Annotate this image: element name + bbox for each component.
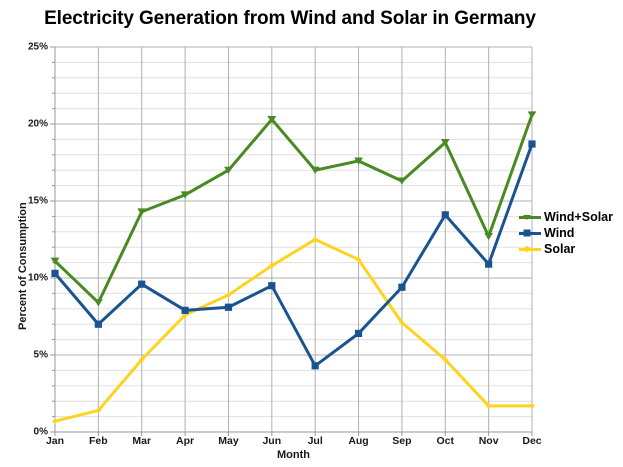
data-point-marker bbox=[95, 321, 102, 328]
data-point-marker bbox=[528, 111, 537, 118]
data-point-marker bbox=[355, 330, 362, 337]
series-solar bbox=[52, 237, 535, 425]
series-wind bbox=[51, 140, 535, 369]
data-point-marker bbox=[268, 282, 275, 289]
legend-label: Wind bbox=[544, 226, 574, 240]
data-point-marker bbox=[181, 307, 188, 314]
data-point-marker bbox=[51, 270, 58, 277]
data-point-marker bbox=[528, 140, 535, 147]
data-point-marker bbox=[312, 362, 319, 369]
data-point-marker bbox=[225, 304, 232, 311]
legend-label: Solar bbox=[544, 242, 575, 256]
series-wind-solar bbox=[51, 111, 537, 306]
legend-swatch-icon bbox=[519, 210, 541, 224]
chart-legend: Wind+SolarWindSolar bbox=[519, 209, 613, 257]
data-point-marker bbox=[138, 281, 145, 288]
data-point-marker bbox=[442, 211, 449, 218]
legend-swatch-icon bbox=[519, 226, 541, 240]
chart-container: Electricity Generation from Wind and Sol… bbox=[0, 0, 623, 467]
data-point-marker bbox=[484, 233, 493, 240]
data-point-marker bbox=[398, 284, 405, 291]
series-line bbox=[55, 115, 532, 303]
legend-marker-icon bbox=[524, 230, 531, 237]
data-point-marker bbox=[529, 403, 535, 409]
data-point-marker bbox=[485, 261, 492, 268]
data-point-marker bbox=[94, 299, 103, 306]
legend-item-solar[interactable]: Solar bbox=[519, 241, 613, 257]
legend-swatch-icon bbox=[519, 242, 541, 256]
series-line bbox=[55, 240, 532, 422]
legend-marker-icon bbox=[523, 245, 530, 252]
legend-marker-icon bbox=[523, 215, 531, 220]
legend-item-wind-solar[interactable]: Wind+Solar bbox=[519, 209, 613, 225]
legend-label: Wind+Solar bbox=[544, 210, 613, 224]
legend-item-wind[interactable]: Wind bbox=[519, 225, 613, 241]
